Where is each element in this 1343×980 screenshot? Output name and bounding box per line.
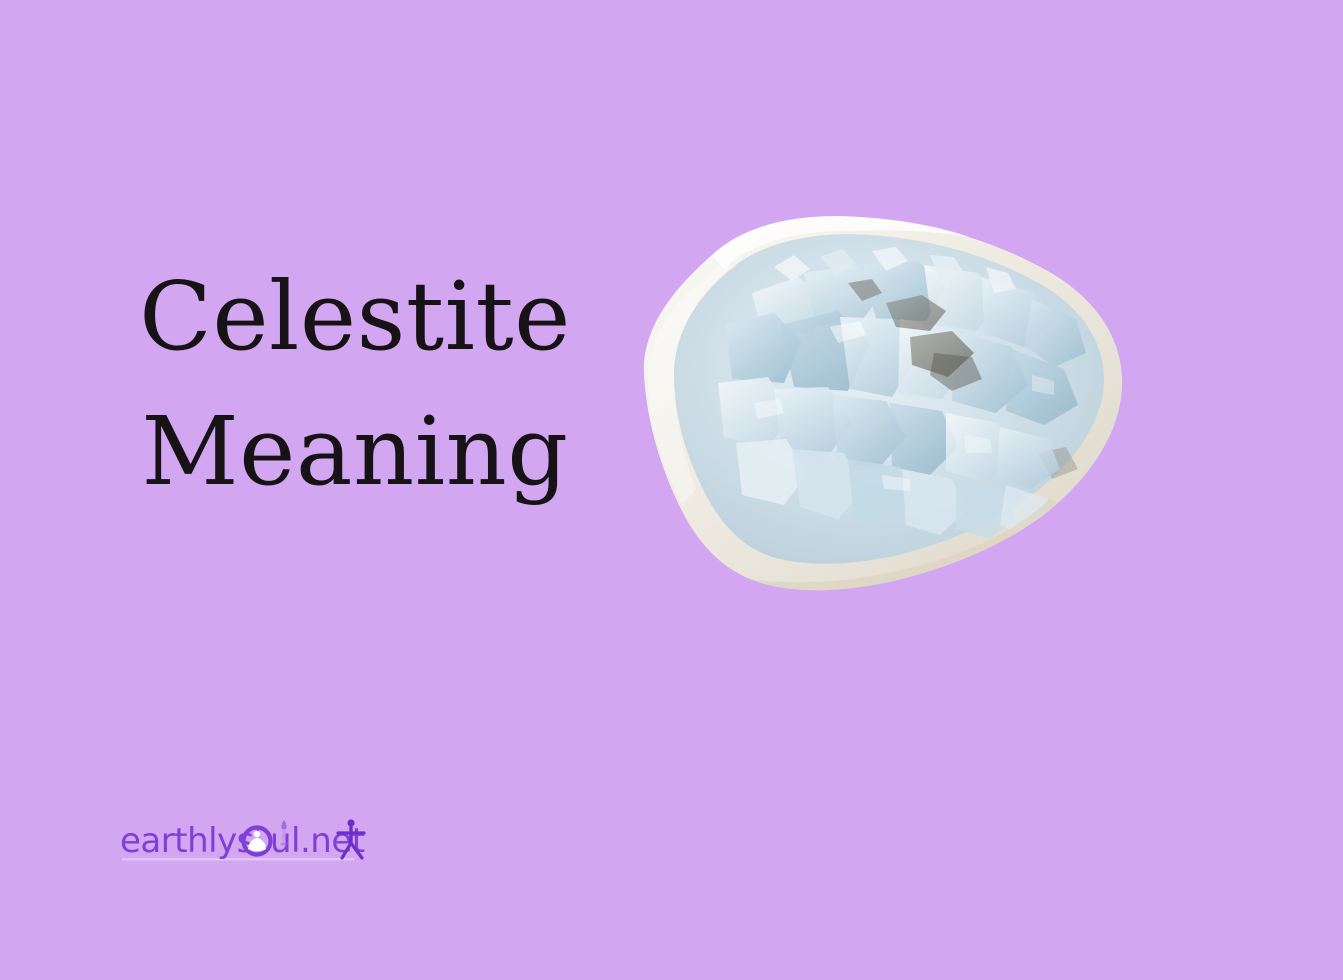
earthlysoul-logo[interactable]: earthlys ul.net [118, 812, 388, 874]
celestite-geode-image [634, 207, 1126, 599]
page-title: Celestite Meaning [95, 268, 615, 503]
logo-text-before: earthlys [120, 821, 254, 861]
title-line-2: Meaning [95, 403, 615, 503]
site-logo[interactable]: earthlys ul.net [118, 812, 388, 874]
title-line-1: Celestite [95, 268, 615, 368]
geode-illustration [634, 207, 1126, 599]
poster-canvas: Celestite Meaning [0, 0, 1343, 980]
